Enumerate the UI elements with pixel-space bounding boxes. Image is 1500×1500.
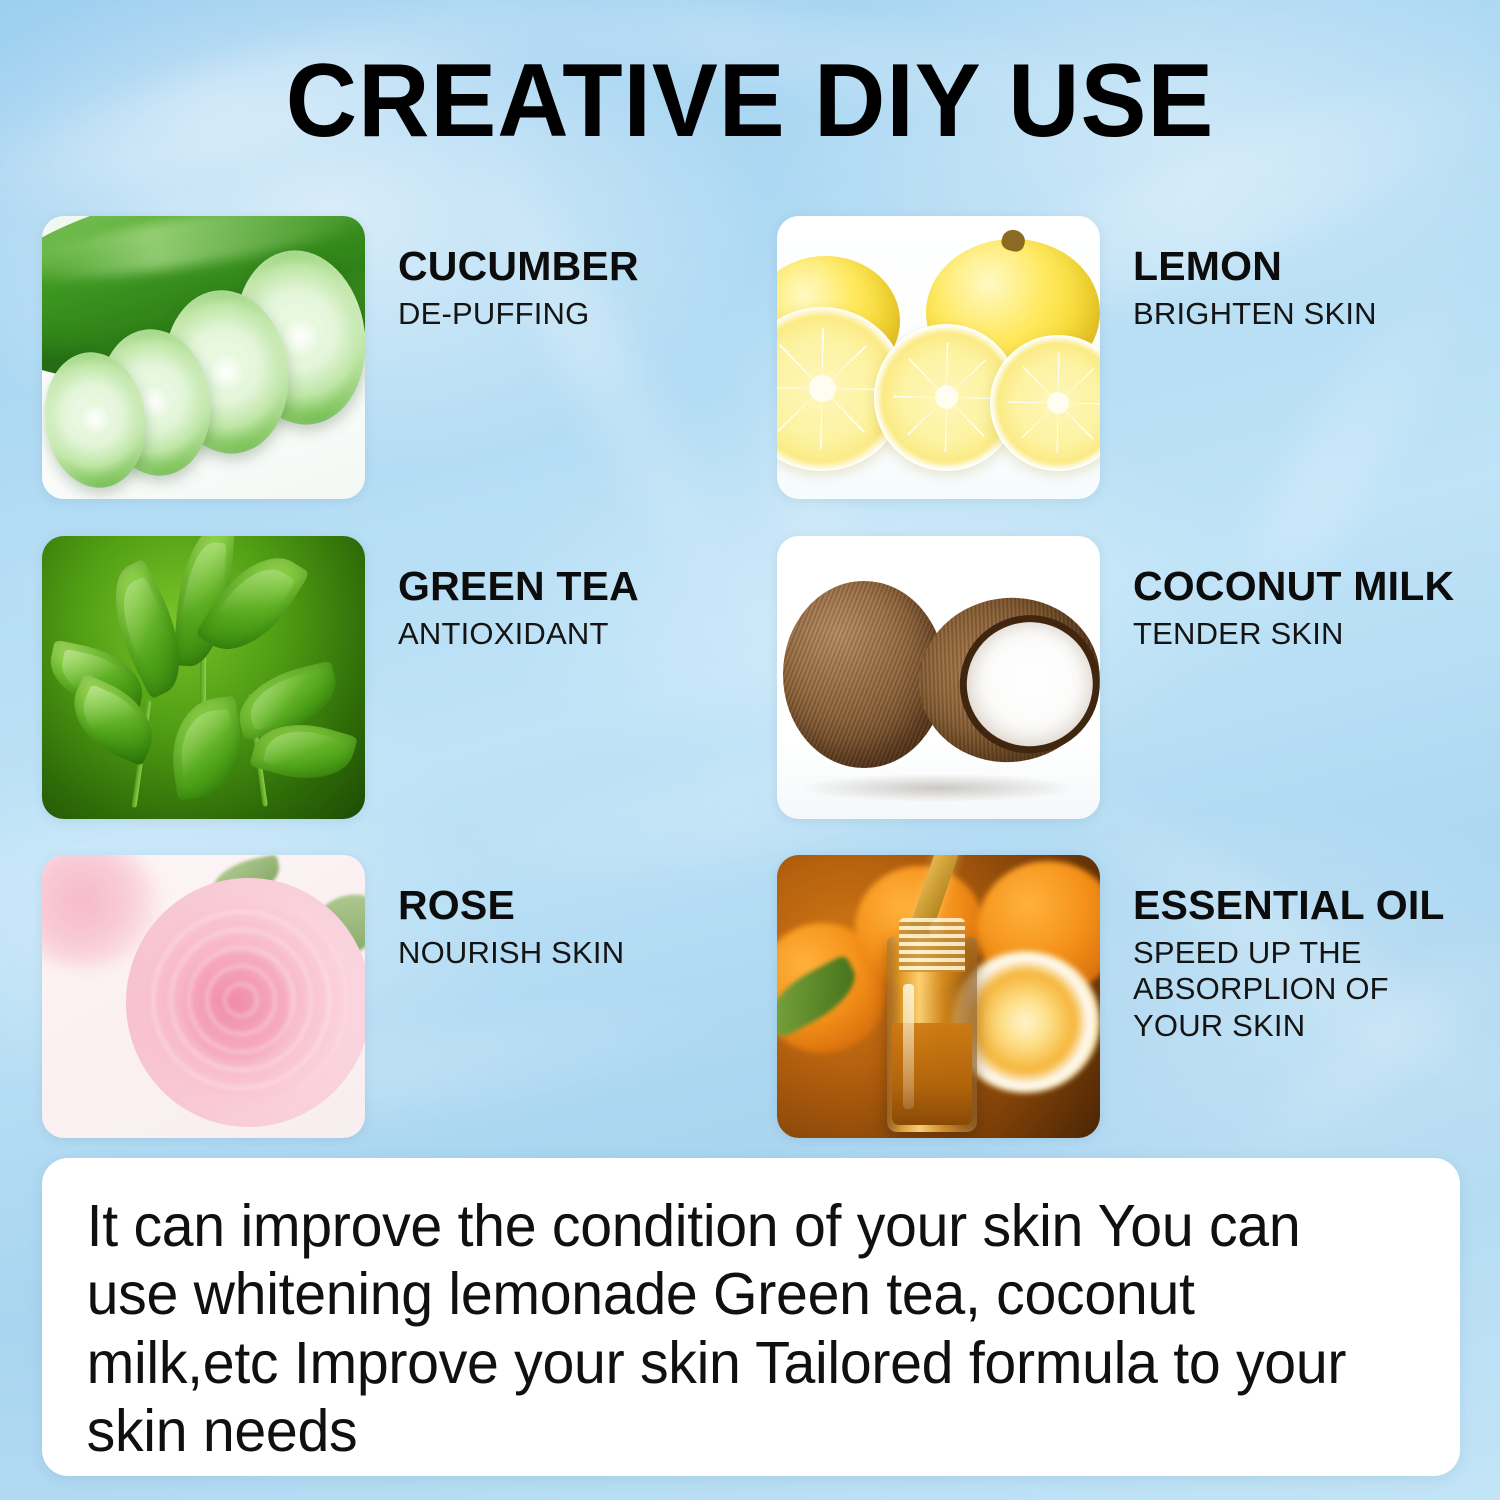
ingredient-benefit: SPEED UP THE ABSORPLION OF YOUR SKIN xyxy=(1133,935,1462,1045)
green-tea-photo xyxy=(42,536,365,819)
lemon-photo xyxy=(777,216,1100,499)
ingredient-benefit: ANTIOXIDANT xyxy=(398,616,639,653)
rose-photo xyxy=(42,855,365,1138)
description-text: It can improve the condition of your ski… xyxy=(42,1158,1417,1466)
infographic-poster: CREATIVE DIY USE CUCUMBER DE-PUFFING xyxy=(0,0,1500,1500)
ingredient-name: LEMON xyxy=(1133,244,1377,290)
ingredient-labels: COCONUT MILK TENDER SKIN xyxy=(1100,536,1454,652)
ingredient-card-green-tea: GREEN TEA ANTIOXIDANT xyxy=(42,536,777,819)
ingredient-card-cucumber: CUCUMBER DE-PUFFING xyxy=(42,216,777,499)
ingredient-card-lemon: LEMON BRIGHTEN SKIN xyxy=(777,216,1462,499)
ingredient-row: CUCUMBER DE-PUFFING LEMON BRIGHT xyxy=(42,216,1462,499)
description-panel: It can improve the condition of your ski… xyxy=(42,1158,1460,1476)
ingredient-name: ROSE xyxy=(398,883,624,929)
ingredient-labels: LEMON BRIGHTEN SKIN xyxy=(1100,216,1377,332)
coconut-photo xyxy=(777,536,1100,819)
ingredient-labels: ROSE NOURISH SKIN xyxy=(365,855,624,971)
ingredient-benefit: DE-PUFFING xyxy=(398,296,639,333)
ingredient-name: GREEN TEA xyxy=(398,564,639,610)
ingredient-card-rose: ROSE NOURISH SKIN xyxy=(42,855,777,1138)
ingredient-labels: ESSENTIAL OIL SPEED UP THE ABSORPLION OF… xyxy=(1100,855,1462,1045)
cucumber-photo xyxy=(42,216,365,499)
ingredient-name: CUCUMBER xyxy=(398,244,639,290)
ingredient-card-essential-oil: ESSENTIAL OIL SPEED UP THE ABSORPLION OF… xyxy=(777,855,1462,1138)
ingredient-labels: CUCUMBER DE-PUFFING xyxy=(365,216,639,332)
ingredient-row: ROSE NOURISH SKIN xyxy=(42,855,1462,1138)
ingredient-card-coconut-milk: COCONUT MILK TENDER SKIN xyxy=(777,536,1462,819)
ingredient-row: GREEN TEA ANTIOXIDANT COCONUT MILK TENDE… xyxy=(42,536,1462,819)
ingredient-benefit: TENDER SKIN xyxy=(1133,616,1454,653)
ingredient-grid: CUCUMBER DE-PUFFING LEMON BRIGHT xyxy=(42,216,1462,1138)
ingredient-name: ESSENTIAL OIL xyxy=(1133,883,1462,929)
ingredient-benefit: NOURISH SKIN xyxy=(398,935,624,972)
ingredient-name: COCONUT MILK xyxy=(1133,564,1454,610)
ingredient-benefit: BRIGHTEN SKIN xyxy=(1133,296,1377,333)
essential-oil-photo xyxy=(777,855,1100,1138)
page-title: CREATIVE DIY USE xyxy=(38,48,1463,154)
ingredient-labels: GREEN TEA ANTIOXIDANT xyxy=(365,536,639,652)
